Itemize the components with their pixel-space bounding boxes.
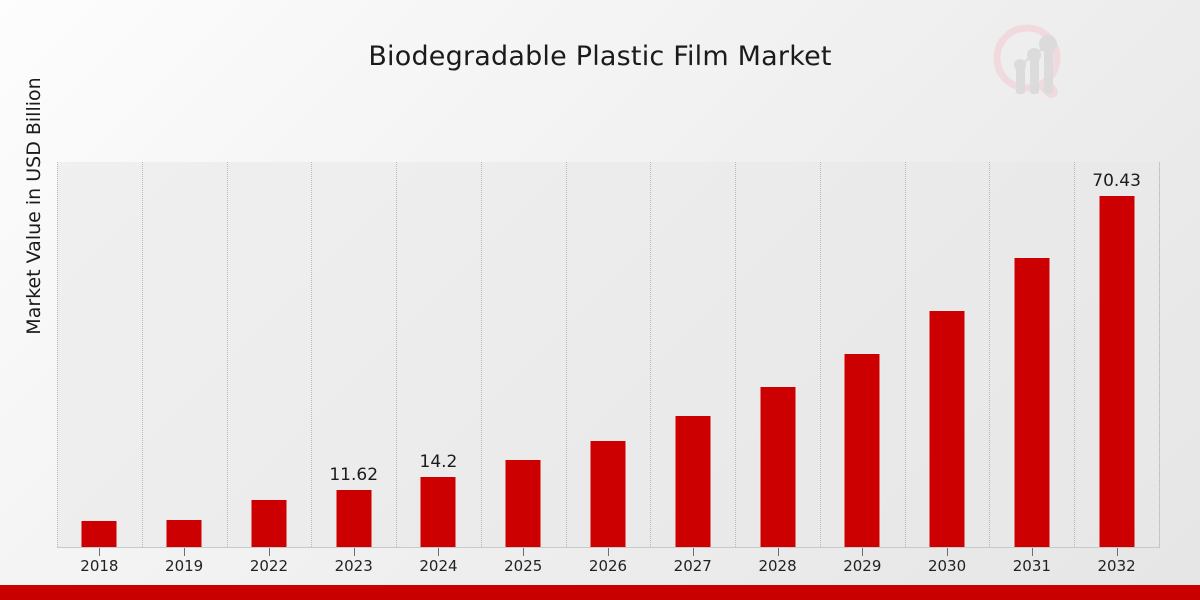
x-axis-label: 2022 bbox=[250, 557, 288, 575]
bar-slot bbox=[989, 162, 1074, 547]
bar[interactable] bbox=[674, 415, 711, 547]
x-axis-tick bbox=[269, 548, 270, 556]
bar[interactable] bbox=[81, 520, 118, 547]
x-axis-tick bbox=[438, 548, 439, 556]
x-axis-tick bbox=[354, 548, 355, 556]
bar-slot bbox=[820, 162, 905, 547]
bar[interactable] bbox=[759, 386, 796, 547]
x-axis-tick bbox=[1032, 548, 1033, 556]
x-axis-label: 2027 bbox=[674, 557, 712, 575]
bar[interactable] bbox=[250, 499, 287, 547]
x-axis-label: 2023 bbox=[335, 557, 373, 575]
x-axis-label: 2018 bbox=[80, 557, 118, 575]
x-axis-label: 2031 bbox=[1013, 557, 1051, 575]
x-axis-tick bbox=[608, 548, 609, 556]
bar-slot bbox=[227, 162, 312, 547]
bar-slot: 14.2 bbox=[396, 162, 481, 547]
x-axis-tick bbox=[947, 548, 948, 556]
gridline bbox=[1159, 162, 1160, 547]
bar-value-label: 14.2 bbox=[420, 452, 458, 472]
y-axis-title: Market Value in USD Billion bbox=[23, 46, 45, 366]
bar-slot bbox=[735, 162, 820, 547]
bar-value-label: 11.62 bbox=[329, 465, 378, 485]
x-axis-label: 2019 bbox=[165, 557, 203, 575]
bar[interactable] bbox=[589, 440, 626, 547]
bar-slot bbox=[905, 162, 990, 547]
bar[interactable] bbox=[1098, 195, 1135, 547]
x-axis-tick bbox=[1117, 548, 1118, 556]
bar-slot bbox=[142, 162, 227, 547]
x-axis-tick bbox=[693, 548, 694, 556]
bar-slot: 70.43 bbox=[1074, 162, 1159, 547]
x-axis-tick bbox=[778, 548, 779, 556]
bar-slot bbox=[57, 162, 142, 547]
bar[interactable] bbox=[166, 519, 203, 547]
plot-area: 11.6214.270.43 bbox=[57, 162, 1160, 547]
bar-slot bbox=[566, 162, 651, 547]
bar-slot bbox=[650, 162, 735, 547]
x-axis-label: 2028 bbox=[758, 557, 796, 575]
chart-canvas: Biodegradable Plastic Film Market Market… bbox=[0, 0, 1200, 600]
bar[interactable] bbox=[420, 476, 457, 547]
x-axis-tick bbox=[862, 548, 863, 556]
x-axis-tick bbox=[523, 548, 524, 556]
x-axis-label: 2029 bbox=[843, 557, 881, 575]
x-axis-label: 2025 bbox=[504, 557, 542, 575]
x-axis-label: 2030 bbox=[928, 557, 966, 575]
bar[interactable] bbox=[1013, 257, 1050, 547]
bar-slot: 11.62 bbox=[311, 162, 396, 547]
x-axis-label: 2026 bbox=[589, 557, 627, 575]
x-axis-label: 2024 bbox=[419, 557, 457, 575]
bar[interactable] bbox=[335, 489, 372, 547]
bar[interactable] bbox=[929, 310, 966, 547]
bar[interactable] bbox=[505, 459, 542, 547]
x-axis-tick bbox=[184, 548, 185, 556]
x-axis-tick bbox=[99, 548, 100, 556]
bar-slot bbox=[481, 162, 566, 547]
footer-bar bbox=[0, 585, 1200, 600]
bar-value-label: 70.43 bbox=[1092, 171, 1141, 191]
bar[interactable] bbox=[844, 353, 881, 547]
x-axis-label: 2032 bbox=[1098, 557, 1136, 575]
chart-title: Biodegradable Plastic Film Market bbox=[0, 40, 1200, 74]
